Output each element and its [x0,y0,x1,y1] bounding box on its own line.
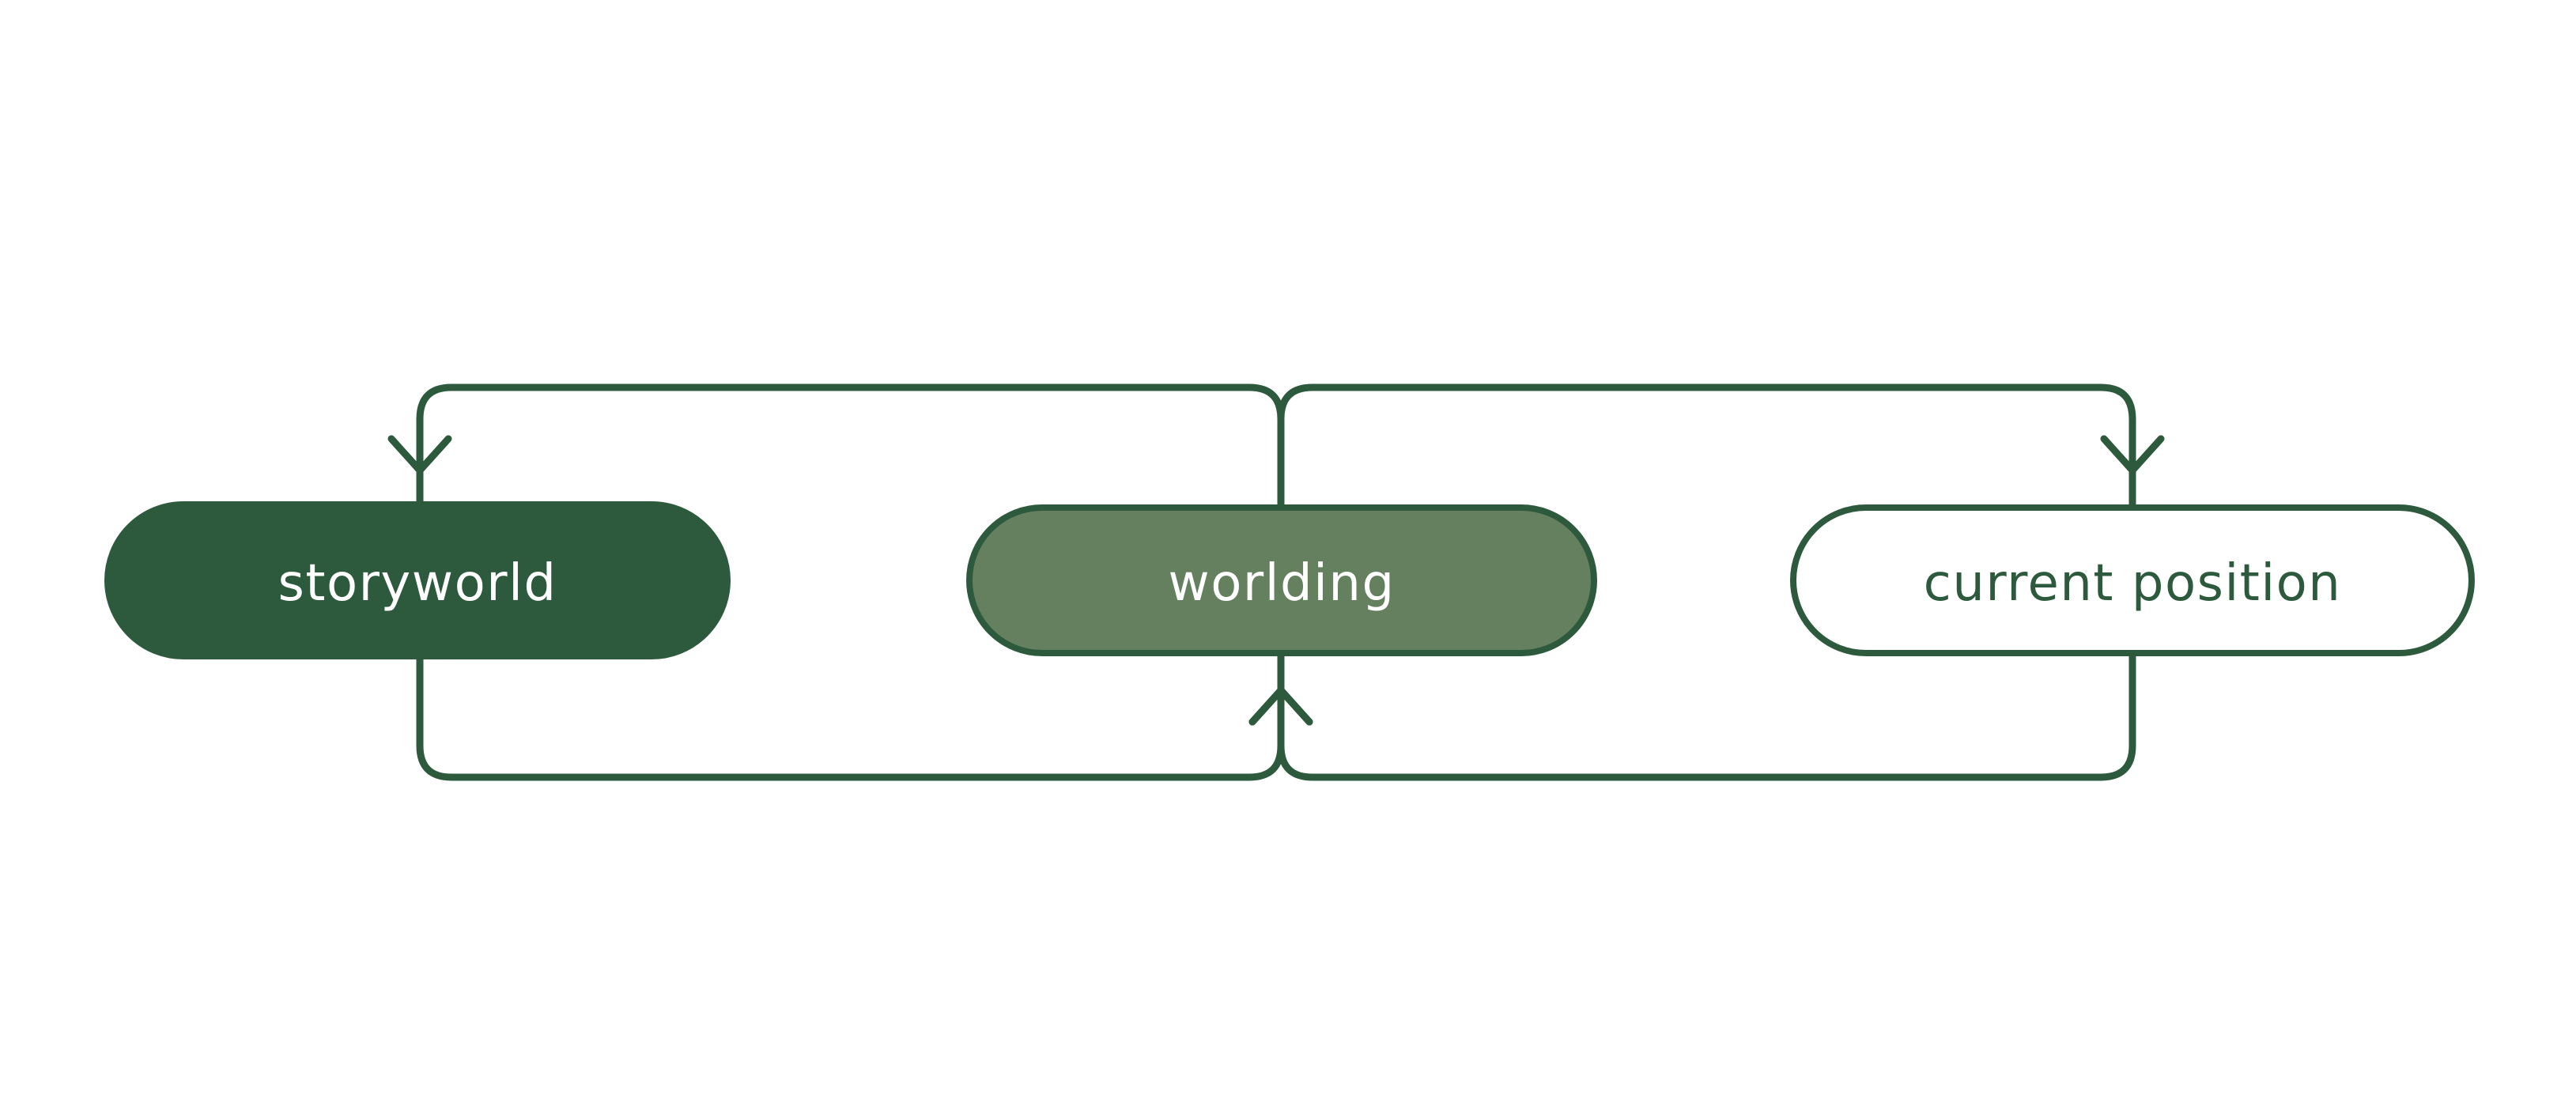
edge-worlding-to-current-position [1281,387,2161,504]
edge-path-worlding-to-storyworld [420,387,1281,504]
edge-storyworld-to-worlding [420,656,1309,777]
node-label-worlding: worlding [1168,554,1395,613]
edge-path-storyworld-to-worlding [420,656,1281,777]
node-current-position[interactable]: current position [1793,508,2472,653]
node-label-current-position: current position [1924,554,2342,613]
node-label-storyworld: storyworld [278,554,557,613]
diagram-canvas: storyworld worlding current position [0,0,2576,1118]
edge-current-position-to-worlding [1252,656,2132,777]
edge-path-worlding-to-current-position [1281,387,2132,504]
flowchart-svg: storyworld worlding current position [0,0,2576,1118]
edge-path-current-position-to-worlding [1281,656,2132,777]
node-storyworld[interactable]: storyworld [108,504,727,656]
node-worlding[interactable]: worlding [969,508,1594,653]
edge-worlding-to-storyworld [391,387,1281,504]
